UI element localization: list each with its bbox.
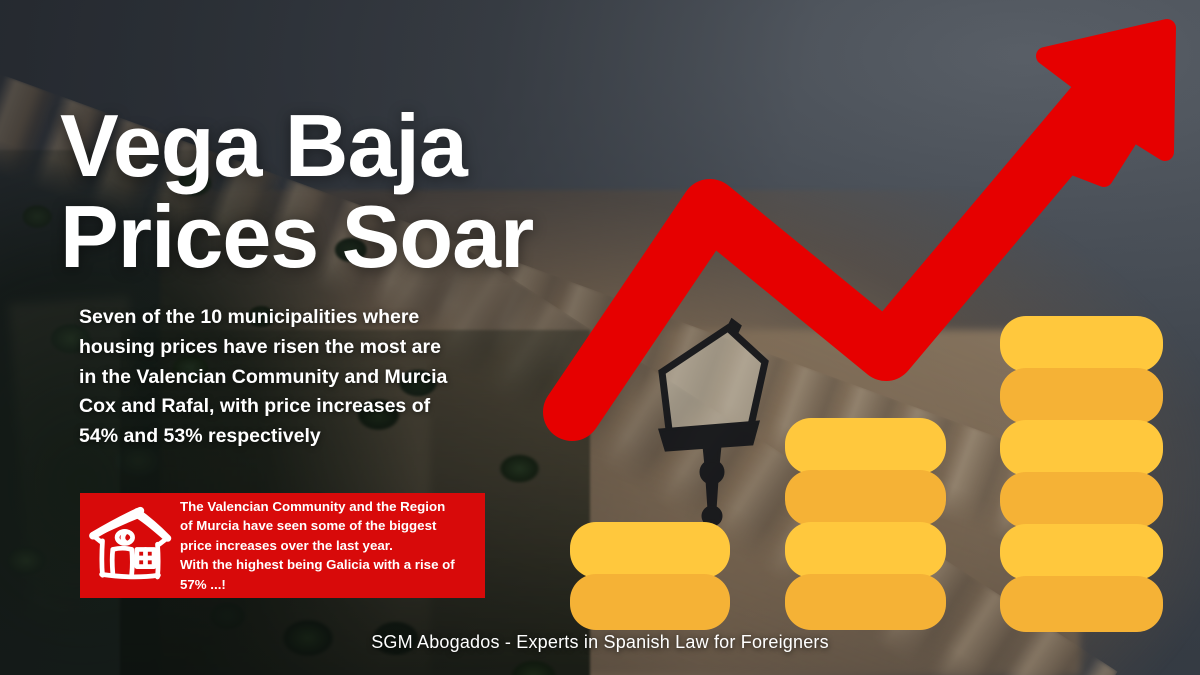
house-sketch-icon: [80, 506, 180, 586]
callout-paragraph: The Valencian Community and the Region o…: [180, 497, 463, 595]
coin: [1000, 576, 1163, 632]
callout-line: of Murcia have seen some of the biggest: [180, 516, 455, 536]
subtitle-line: Seven of the 10 municipalities where: [79, 303, 509, 333]
coin: [1000, 368, 1163, 424]
page-title: Vega Baja Prices Soar: [60, 101, 740, 282]
coin: [570, 574, 730, 630]
callout-line: 57% ...!: [180, 575, 455, 595]
subtitle-line: Cox and Rafal, with price increases of: [79, 392, 509, 422]
title-line-2: Prices Soar: [60, 192, 740, 283]
callout-line: With the highest being Galicia with a ri…: [180, 555, 455, 575]
coin-stack-medium: [785, 418, 946, 626]
coin: [785, 574, 946, 630]
poster-canvas: Vega Baja Prices Soar Seven of the 10 mu…: [0, 0, 1200, 675]
coin: [785, 418, 946, 474]
callout-box: The Valencian Community and the Region o…: [80, 493, 485, 598]
subtitle-paragraph: Seven of the 10 municipalities where hou…: [79, 303, 509, 452]
subtitle-line: 54% and 53% respectively: [79, 422, 509, 452]
coin: [1000, 316, 1163, 372]
coin: [1000, 472, 1163, 528]
callout-line: price increases over the last year.: [180, 536, 455, 556]
coin-stack-small: [570, 522, 730, 626]
footer-credit: SGM Abogados - Experts in Spanish Law fo…: [0, 632, 1200, 653]
coin: [785, 470, 946, 526]
coin: [1000, 524, 1163, 580]
subtitle-line: housing prices have risen the most are: [79, 333, 509, 363]
callout-line: The Valencian Community and the Region: [180, 497, 455, 517]
coin-stack-large: [1000, 316, 1163, 628]
coin: [570, 522, 730, 578]
title-line-1: Vega Baja: [60, 96, 467, 195]
subtitle-line: in the Valencian Community and Murcia: [79, 363, 509, 393]
coin: [1000, 420, 1163, 476]
coin: [785, 522, 946, 578]
